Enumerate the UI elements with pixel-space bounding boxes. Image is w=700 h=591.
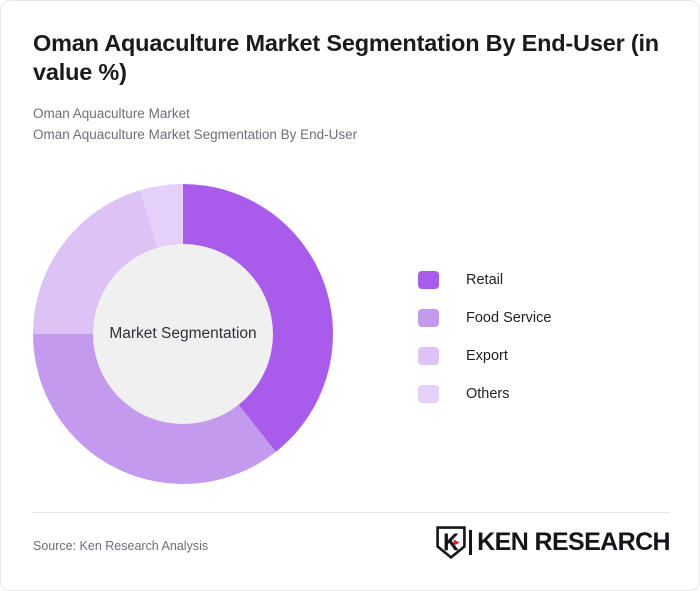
footer-divider bbox=[32, 512, 670, 513]
chart-header: Oman Aquaculture Market Segmentation By … bbox=[33, 29, 669, 146]
donut-svg bbox=[33, 184, 333, 484]
legend-swatch-food-service bbox=[418, 309, 439, 327]
logo-separator-bar bbox=[469, 530, 472, 555]
chart-card: Oman Aquaculture Market Segmentation By … bbox=[0, 0, 700, 591]
ken-research-logo: KEN RESEARCH bbox=[436, 525, 670, 559]
chart-subtitle-segmentation: Oman Aquaculture Market Segmentation By … bbox=[33, 125, 669, 146]
chart-legend: RetailFood ServiceExportOthers bbox=[418, 261, 551, 413]
ken-research-logo-mark-icon bbox=[436, 526, 466, 559]
legend-label-food-service: Food Service bbox=[466, 310, 551, 326]
legend-swatch-export bbox=[418, 347, 439, 365]
legend-item-export[interactable]: Export bbox=[418, 337, 551, 375]
ken-research-logo-text: KEN RESEARCH bbox=[477, 528, 670, 557]
page-title: Oman Aquaculture Market Segmentation By … bbox=[33, 29, 669, 86]
legend-label-others: Others bbox=[466, 386, 510, 402]
source-note: Source: Ken Research Analysis bbox=[33, 539, 208, 553]
legend-swatch-others bbox=[418, 385, 439, 403]
legend-label-retail: Retail bbox=[466, 272, 503, 288]
plot-area: Market Segmentation RetailFood ServiceEx… bbox=[1, 161, 700, 506]
donut-chart: Market Segmentation bbox=[33, 184, 333, 484]
legend-label-export: Export bbox=[466, 348, 508, 364]
legend-item-food-service[interactable]: Food Service bbox=[418, 299, 551, 337]
subtitle-block: Oman Aquaculture Market Oman Aquaculture… bbox=[33, 104, 669, 146]
donut-hole bbox=[93, 244, 273, 424]
legend-swatch-retail bbox=[418, 271, 439, 289]
legend-item-retail[interactable]: Retail bbox=[418, 261, 551, 299]
legend-item-others[interactable]: Others bbox=[418, 375, 551, 413]
chart-subtitle-market: Oman Aquaculture Market bbox=[33, 104, 669, 125]
